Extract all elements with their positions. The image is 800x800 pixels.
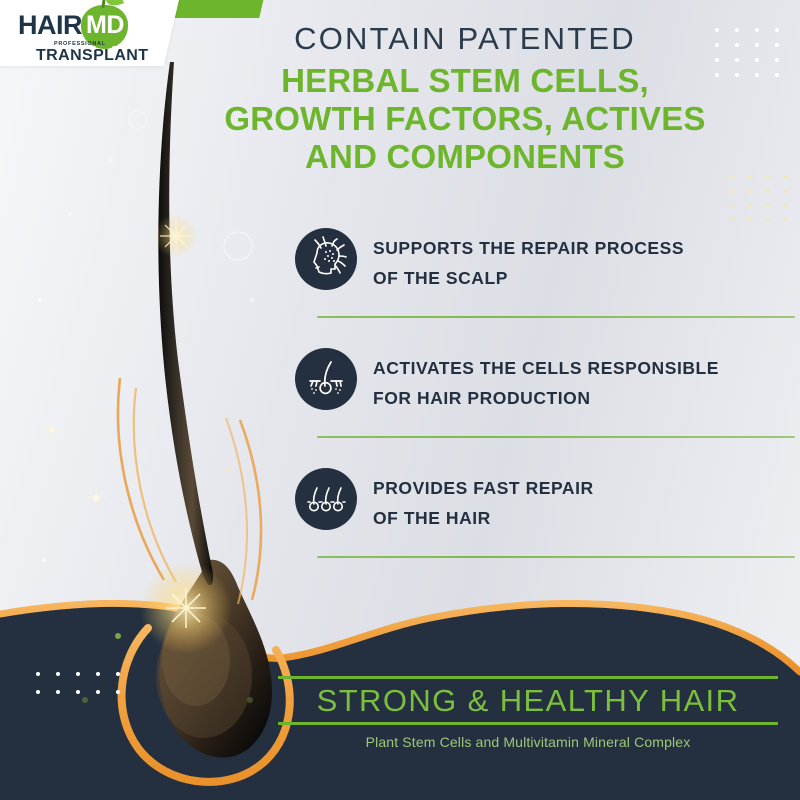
headline-green-line-2: GROWTH FACTORS, ACTIVES <box>165 100 765 138</box>
infographic-poster: HAIR MD PROFESSIONAL TRANSPLANT CONTAIN … <box>0 0 800 800</box>
scalp-head-icon <box>295 228 357 290</box>
dot-grid-bottom-left <box>36 672 126 702</box>
banner-subtitle: Plant Stem Cells and Multivitamin Minera… <box>278 734 778 750</box>
logo-hair-text: HAIR <box>18 10 82 41</box>
headline-top-line: CONTAIN PATENTED <box>165 22 765 57</box>
brand-logo[interactable]: HAIR MD PROFESSIONAL TRANSPLANT <box>14 8 164 64</box>
headline-green-line-3: AND COMPONENTS <box>165 138 765 176</box>
benefit-text-1: SUPPORTS THE REPAIR PROCESS OF THE SCALP <box>373 233 785 293</box>
benefit-text-3: PROVIDES FAST REPAIR OF THE HAIR <box>373 473 785 533</box>
banner-title: STRONG & HEALTHY HAIR <box>278 679 778 722</box>
dot-row-logo-below <box>72 46 142 52</box>
hair-follicle-icon <box>295 348 357 410</box>
benefit-divider-2 <box>317 436 795 438</box>
benefit-1-line-2: OF THE SCALP <box>373 263 785 293</box>
logo-md-text: MD <box>84 11 126 40</box>
benefit-item-2[interactable]: ACTIVATES THE CELLS RESPONSIBLE FOR HAIR… <box>295 348 795 468</box>
dot-grid-top-right <box>715 28 785 88</box>
benefit-2-line-2: FOR HAIR PRODUCTION <box>373 383 785 413</box>
benefit-2-line-1: ACTIVATES THE CELLS RESPONSIBLE <box>373 353 785 383</box>
benefit-3-line-1: PROVIDES FAST REPAIR <box>373 473 785 503</box>
banner-block: STRONG & HEALTHY HAIR Plant Stem Cells a… <box>278 676 778 750</box>
benefit-item-1[interactable]: SUPPORTS THE REPAIR PROCESS OF THE SCALP <box>295 228 795 348</box>
benefits-list: SUPPORTS THE REPAIR PROCESS OF THE SCALP <box>295 228 795 588</box>
headline-green-line-1: HERBAL STEM CELLS, <box>165 62 765 100</box>
benefit-divider-3 <box>317 556 795 558</box>
headline-block: CONTAIN PATENTED HERBAL STEM CELLS, GROW… <box>165 22 765 177</box>
benefit-divider-1 <box>317 316 795 318</box>
banner-rule-bottom <box>278 722 778 725</box>
multiple-follicles-icon <box>295 468 357 530</box>
benefit-3-line-2: OF THE HAIR <box>373 503 785 533</box>
headline-green-block: HERBAL STEM CELLS, GROWTH FACTORS, ACTIV… <box>165 62 765 177</box>
benefit-text-2: ACTIVATES THE CELLS RESPONSIBLE FOR HAIR… <box>373 353 785 413</box>
benefit-item-3[interactable]: PROVIDES FAST REPAIR OF THE HAIR <box>295 468 795 588</box>
dot-grid-mid-right <box>730 175 790 235</box>
benefit-1-line-1: SUPPORTS THE REPAIR PROCESS <box>373 233 785 263</box>
